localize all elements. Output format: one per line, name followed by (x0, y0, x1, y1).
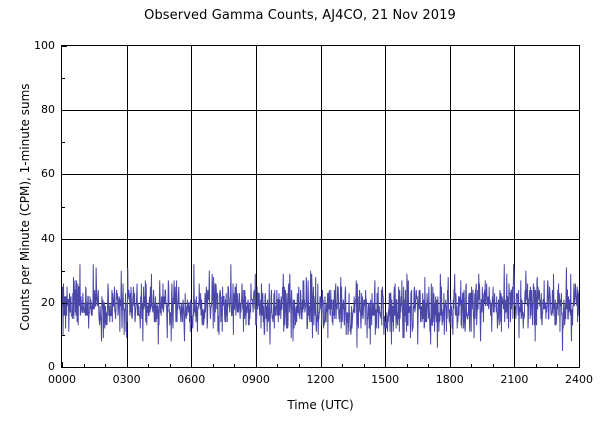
y-minor-tick (61, 207, 65, 208)
x-axis-label: Time (UTC) (61, 398, 580, 412)
y-major-tick (61, 303, 67, 304)
x-minor-tick (342, 364, 343, 368)
plot-svg (62, 46, 579, 367)
y-major-tick (61, 110, 67, 111)
x-major-tick (256, 362, 257, 368)
x-minor-tick (557, 364, 558, 368)
x-minor-tick (493, 364, 494, 368)
x-tick-label: 2400 (549, 373, 600, 386)
y-axis-label: Counts per Minute (CPM), 1-minute sums (18, 42, 32, 372)
y-tick-label: 60 (5, 167, 55, 180)
x-major-tick (514, 362, 515, 368)
y-tick-label: 100 (5, 39, 55, 52)
x-minor-tick (277, 364, 278, 368)
x-minor-tick (299, 364, 300, 368)
x-minor-tick (213, 364, 214, 368)
x-tick-label: 2100 (484, 373, 544, 386)
x-major-tick (191, 362, 192, 368)
y-major-tick (61, 46, 67, 47)
x-minor-tick (148, 364, 149, 368)
y-minor-tick (61, 78, 65, 79)
x-tick-label: 0600 (161, 373, 221, 386)
x-minor-tick (428, 364, 429, 368)
x-tick-label: 1800 (420, 373, 480, 386)
x-minor-tick (536, 364, 537, 368)
x-minor-tick (105, 364, 106, 368)
y-tick-label: 80 (5, 103, 55, 116)
y-minor-tick (61, 271, 65, 272)
x-tick-label: 0000 (32, 373, 92, 386)
y-minor-tick (61, 335, 65, 336)
x-tick-label: 1500 (355, 373, 415, 386)
x-minor-tick (471, 364, 472, 368)
y-major-tick (61, 239, 67, 240)
x-major-tick (385, 362, 386, 368)
x-tick-label: 0900 (226, 373, 286, 386)
chart-figure: Observed Gamma Counts, AJ4CO, 21 Nov 201… (0, 0, 600, 428)
x-minor-tick (407, 364, 408, 368)
y-major-tick (61, 174, 67, 175)
x-minor-tick (84, 364, 85, 368)
data-traces (62, 264, 579, 351)
x-major-tick (127, 362, 128, 368)
x-tick-label: 0300 (97, 373, 157, 386)
x-minor-tick (234, 364, 235, 368)
y-tick-label: 0 (5, 360, 55, 373)
x-major-tick (62, 362, 63, 368)
x-major-tick (450, 362, 451, 368)
x-major-tick (579, 362, 580, 368)
y-tick-label: 40 (5, 232, 55, 245)
y-minor-tick (61, 142, 65, 143)
x-tick-label: 1200 (291, 373, 351, 386)
y-tick-label: 20 (5, 296, 55, 309)
x-minor-tick (364, 364, 365, 368)
data-trace-gamma-counts (62, 264, 579, 351)
x-major-tick (321, 362, 322, 368)
page-title: Observed Gamma Counts, AJ4CO, 21 Nov 201… (0, 8, 600, 23)
x-minor-tick (170, 364, 171, 368)
plot-area (61, 45, 580, 368)
